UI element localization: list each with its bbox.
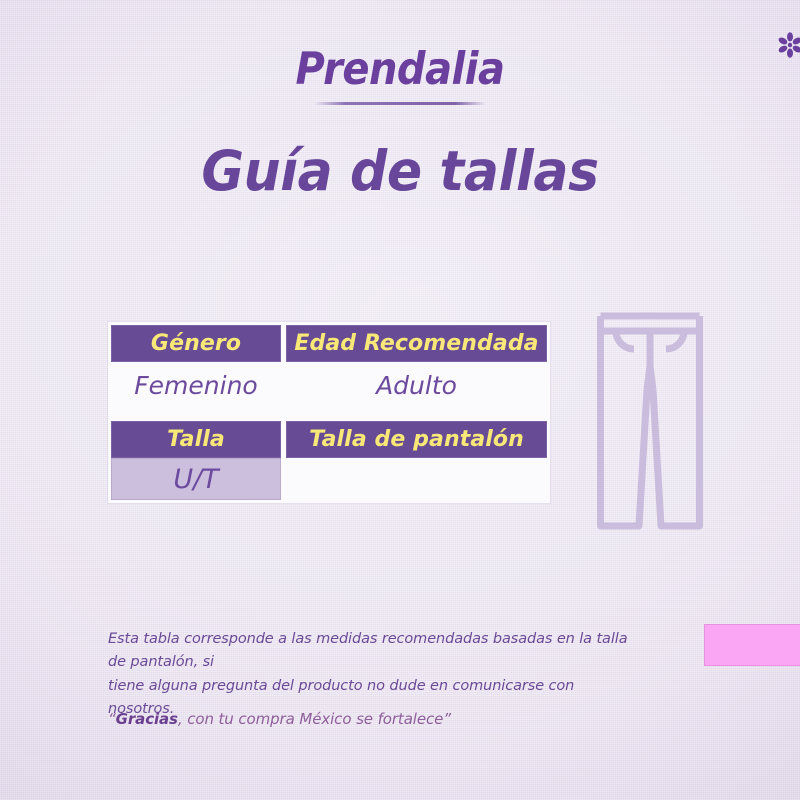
thanks-bold-word: Gracias [116,710,178,728]
table-header-cell-edad: Edad Recomendada [286,325,547,362]
size-guide-table: Género Edad Recomendada Femenino Adulto … [108,322,550,503]
table-row: Talla Talla de pantalón [108,418,550,458]
table-header-cell-talla: Talla [111,421,281,458]
table-row: U/T 7-11 [108,458,550,503]
brand-logo: Prendalia [0,52,800,114]
dahlia-flower-icon [777,32,800,58]
thanks-message: “Gracias, con tu compra México se fortal… [108,710,451,728]
table-header-cell-genero: Género [111,325,281,362]
table-row: Género Edad Recomendada [108,322,550,362]
table-cell-genero-value: Femenino [111,362,281,408]
page-title: Guía de tallas [0,140,800,204]
table-cell-talla-value: U/T [111,458,281,500]
open-quote: “ [108,710,116,728]
thanks-rest: , con tu compra México se fortalece [178,710,443,728]
close-quote: ” [443,710,451,728]
pants-icon [596,302,704,530]
brand-name: Prendalia [296,47,505,92]
table-cell-talla-pantalon-value: 7-11 [704,624,800,666]
table-cell-edad-value: Adulto [286,362,547,408]
table-header-cell-talla-pantalon: Talla de pantalón [286,421,547,458]
logo-underline-swash [314,102,486,105]
disclaimer-line-1: Esta tabla corresponde a las medidas rec… [108,628,628,675]
disclaimer-note: Esta tabla corresponde a las medidas rec… [108,628,628,722]
table-row: Femenino Adulto [108,362,550,408]
table-row-spacer [108,408,550,418]
